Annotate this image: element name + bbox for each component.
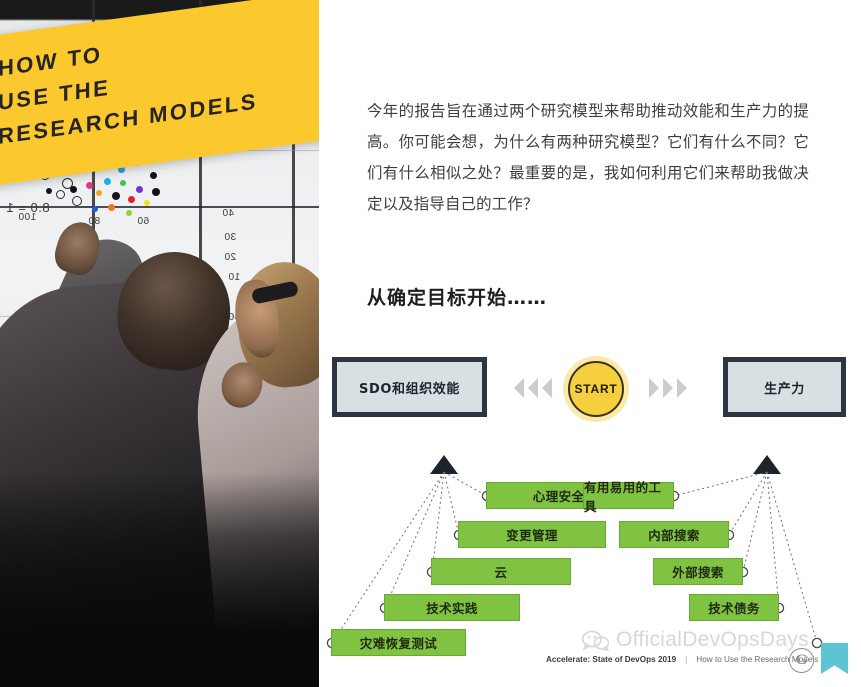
driver-box-left-5[interactable]: 灾难恢复测试 [331,629,466,656]
arrowhead-left [430,455,458,474]
footer-report-title: Accelerate: State of DevOps 2019 [546,655,676,664]
wechat-bubble-icon [582,630,609,651]
slide-footer: Accelerate: State of DevOps 2019 | How t… [546,655,818,664]
driver-box-right-4[interactable]: 技术债务 [689,594,779,621]
driver-label: 内部搜索 [648,525,700,544]
driver-label: 灾难恢复测试 [360,633,437,652]
driver-box-right-3[interactable]: 外部搜索 [653,558,743,585]
watermark-text: OfficialDevOpsDays [616,628,809,652]
google-cloud-logo-icon: G [789,648,814,673]
g-logo-letter: G [796,652,808,669]
outcome-box-productivity-label: 生产力 [764,378,805,397]
chevrons-right [649,378,687,398]
section-heading: 从确定目标开始…… [367,283,547,310]
start-node[interactable]: START [568,361,624,417]
content-panel: 今年的报告旨在通过两个研究模型来帮助推动效能和生产力的提高。你可能会想，为什么有… [319,0,861,687]
outcome-box-sdo-label: SDO和组织效能 [359,378,460,397]
arrowhead-right [753,455,781,474]
wall-axis-number: 10 [228,272,240,283]
wall-axis-number: 20 [224,252,236,263]
driver-label: 变更管理 [506,525,558,544]
driver-label: 有用易用的工具 [584,477,673,515]
wall-grid-line [0,150,319,151]
driver-label: 技术债务 [708,598,760,617]
start-label: START [574,382,617,396]
wall-axis-number: 30 [224,232,236,243]
outcome-box-sdo[interactable]: SDO和组织效能 [332,357,487,417]
outcome-box-productivity[interactable]: 生产力 [723,357,846,417]
driver-label: 技术实践 [426,598,478,617]
driver-label: 云 [495,562,508,581]
photo-vignette [0,472,319,687]
footer-separator: | [685,655,687,664]
wall-axis-number: 100 [18,212,36,223]
chevrons-left [514,378,552,398]
hero-photo: 8.0 = 1 100 80 60 40 30 20 10 300 day [0,0,319,687]
driver-box-right-1[interactable]: 有用易用的工具 [583,482,674,509]
driver-box-left-3[interactable]: 云 [431,558,571,585]
slide-canvas: 8.0 = 1 100 80 60 40 30 20 10 300 day [0,0,861,687]
intro-paragraph: 今年的报告旨在通过两个研究模型来帮助推动效能和生产力的提高。你可能会想，为什么有… [367,96,809,220]
watermark: OfficialDevOpsDays [582,628,809,652]
driver-box-right-2[interactable]: 内部搜索 [619,521,729,548]
driver-box-left-2[interactable]: 变更管理 [458,521,606,548]
wall-axis-number: 40 [222,208,234,219]
driver-box-left-4[interactable]: 技术实践 [384,594,520,621]
wall-axis-number: 60 [137,216,149,227]
driver-label: 外部搜索 [672,562,724,581]
